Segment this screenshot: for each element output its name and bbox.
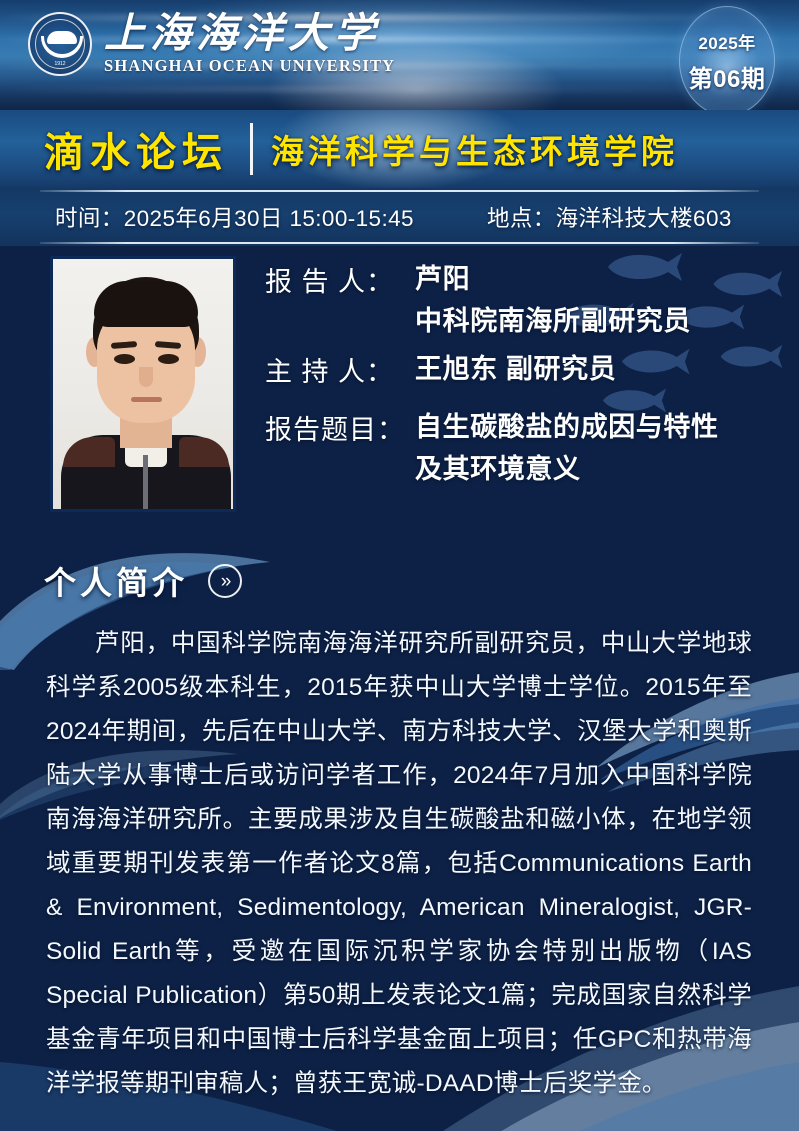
host-name: 王旭东 副研究员 <box>415 350 616 388</box>
college-name: 海洋科学与生态环境学院 <box>271 125 678 173</box>
event-meta-bar: 时间：2025年6月30日 15:00-15:45 地点：海洋科技大楼603 <box>0 188 799 246</box>
seal-bowl-shape <box>41 36 83 58</box>
speaker-info-list: 报 告 人： 芦阳 中科院南海所副研究员 主 持 人： 王旭东 副研究员 报告题… <box>265 260 785 492</box>
issue-number: 第06期 <box>689 59 766 94</box>
topic-line-2: 及其环境意义 <box>415 450 581 488</box>
seal-year: 1912 <box>30 61 90 67</box>
speaker-affiliation: 中科院南海所副研究员 <box>415 302 691 340</box>
bio-heading-label: 个人简介 <box>44 558 188 604</box>
topic-row: 报告题目： 自生碳酸盐的成因与特性 <box>265 408 785 447</box>
title-strip: 滴水论坛 海洋科学与生态环境学院 <box>0 110 799 188</box>
event-time: 时间：2025年6月30日 15:00-15:45 <box>55 201 414 233</box>
event-place: 地点：海洋科技大楼603 <box>487 201 732 233</box>
university-seal-icon: 1912 <box>28 12 92 76</box>
speaker-label: 报 告 人： <box>265 260 415 299</box>
university-name-cn: 上海海洋大学 <box>104 13 395 54</box>
speaker-row: 报 告 人： 芦阳 <box>265 260 785 299</box>
seminar-poster: 1912 上海海洋大学 SHANGHAI OCEAN UNIVERSITY 20… <box>0 0 799 1131</box>
bio-text: 芦阳，中国科学院南海海洋研究所副研究员，中山大学地球科学系2005级本科生，20… <box>46 622 752 1106</box>
speaker-affiliation-row: 中科院南海所副研究员 <box>265 302 785 340</box>
forum-title: 滴水论坛 <box>44 120 228 178</box>
host-row: 主 持 人： 王旭东 副研究员 <box>265 350 785 389</box>
topic-line-1: 自生碳酸盐的成因与特性 <box>415 408 719 446</box>
speaker-name: 芦阳 <box>415 260 470 298</box>
speaker-photo <box>50 256 236 512</box>
double-chevron-right-icon: » <box>208 564 242 598</box>
issue-year: 2025年 <box>698 29 755 54</box>
university-name-en: SHANGHAI OCEAN UNIVERSITY <box>104 58 395 75</box>
header-banner: 1912 上海海洋大学 SHANGHAI OCEAN UNIVERSITY 20… <box>0 0 799 110</box>
bio-paragraph: 芦阳，中国科学院南海海洋研究所副研究员，中山大学地球科学系2005级本科生，20… <box>46 622 752 1106</box>
bio-heading: 个人简介 » <box>44 558 242 604</box>
title-divider <box>250 123 253 175</box>
speaker-section: 报 告 人： 芦阳 中科院南海所副研究员 主 持 人： 王旭东 副研究员 报告题… <box>0 246 799 536</box>
topic-label: 报告题目： <box>265 408 415 447</box>
university-logo: 1912 上海海洋大学 SHANGHAI OCEAN UNIVERSITY <box>28 12 395 76</box>
topic-row-continued: 及其环境意义 <box>265 450 785 488</box>
issue-badge: 2025年 第06期 <box>679 6 775 110</box>
host-label: 主 持 人： <box>265 350 415 389</box>
